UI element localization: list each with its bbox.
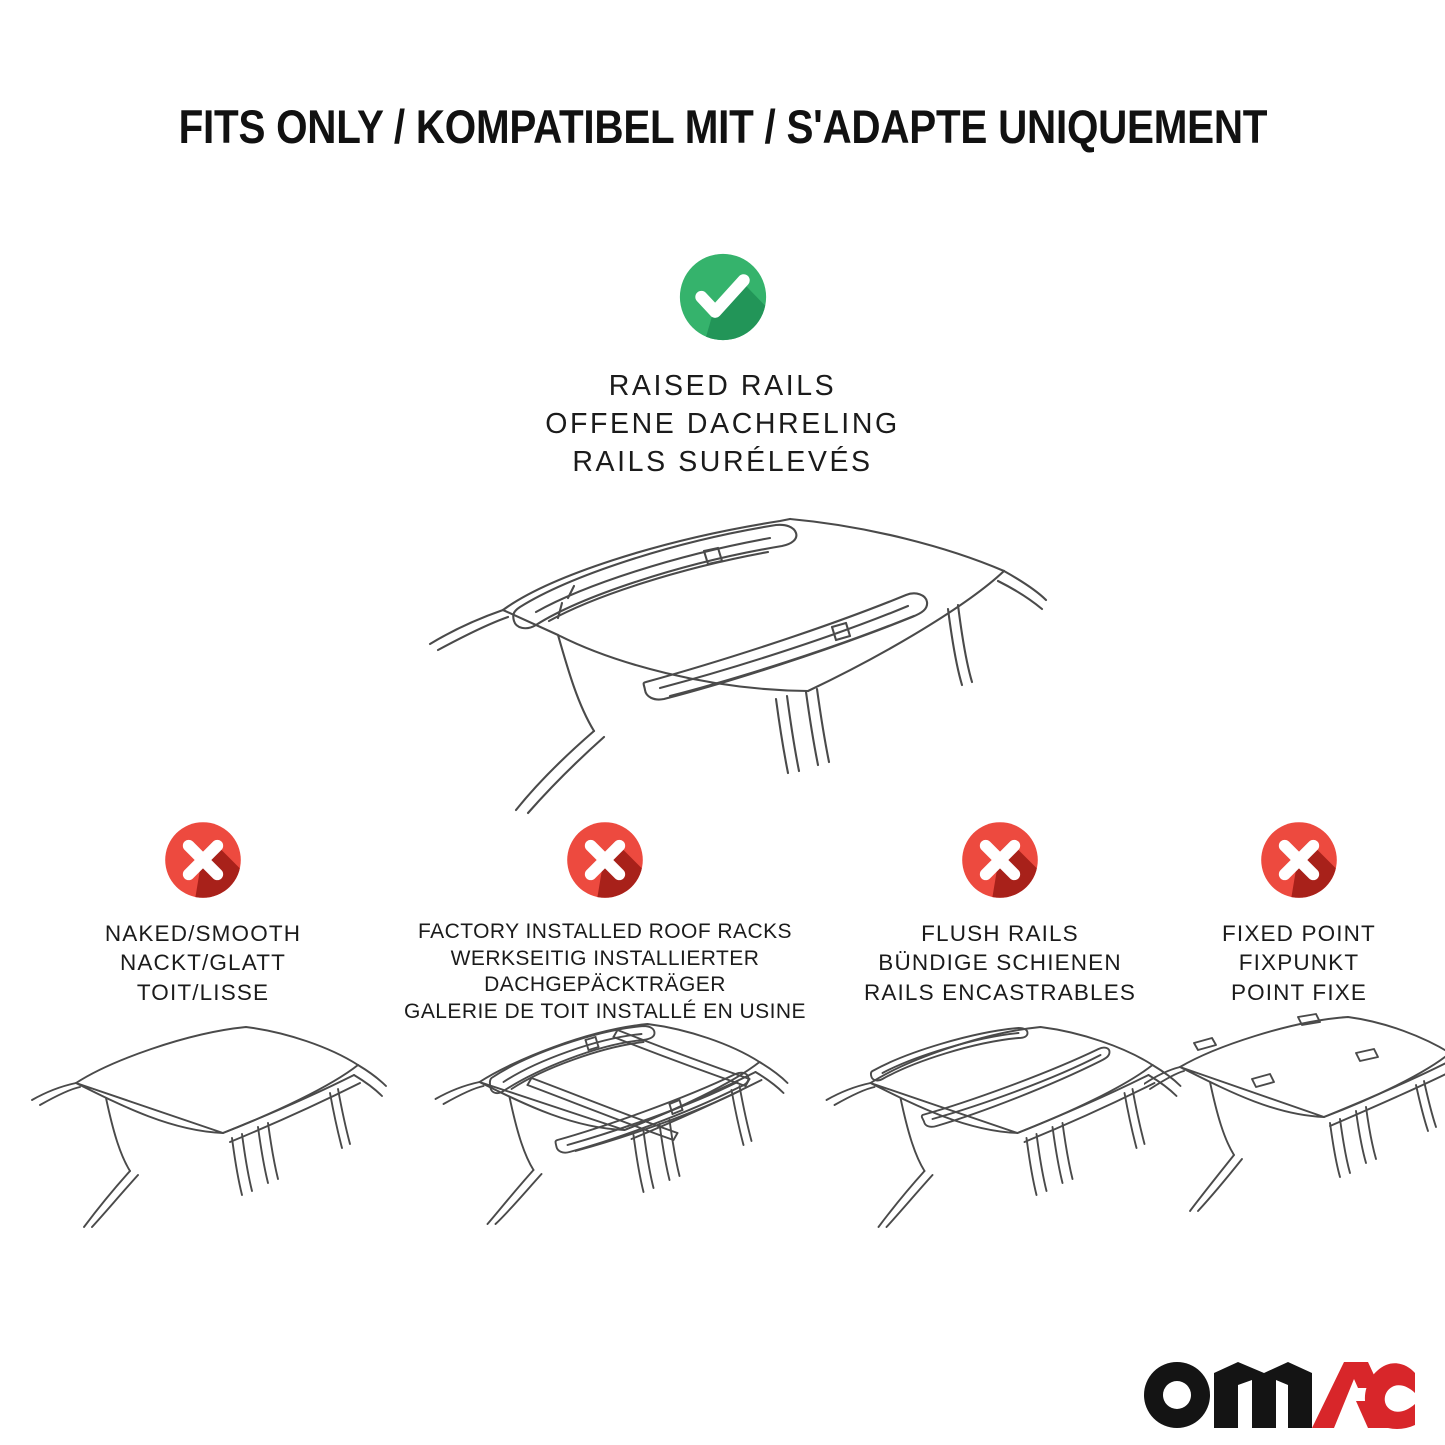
incompatible-item-factory-roof-racks: FACTORY INSTALLED ROOF RACKS WERKSEITIG … [380,818,830,1026]
cross-circle-icon [1257,818,1341,902]
cross-circle-icon [161,818,245,902]
label-line-de: FIXPUNKT [1168,948,1430,977]
compatible-label-line-fr: RAILS SURÉLEVÉS [0,444,1445,482]
omac-logo [1130,1343,1415,1435]
car-roof-factory-roof-racks-illustration [418,990,793,1225]
compatible-label-line-en: RAISED RAILS [0,368,1445,406]
label-line-de: BÜNDIGE SCHIENEN [840,948,1160,977]
page-title: FITS ONLY / KOMPATIBEL MIT / S'ADAPTE UN… [0,103,1445,150]
car-roof-naked-smooth-illustration [18,1003,388,1228]
label-line-de-1: WERKSEITIG INSTALLIERTER [380,946,830,973]
car-roof-raised-rails-illustration [408,485,1048,815]
label-line-en: NAKED/SMOOTH [38,919,368,948]
page-title-text: FITS ONLY / KOMPATIBEL MIT / S'ADAPTE UN… [178,103,1267,150]
label-line-de: NACKT/GLATT [38,948,368,977]
compatible-label-line-de: OFFENE DACHRELING [0,406,1445,444]
incompatible-item-naked-smooth: NAKED/SMOOTH NACKT/GLATT TOIT/LISSE [38,818,368,1007]
car-roof-flush-rails-illustration [813,1003,1188,1228]
car-roof-fixed-point-illustration [1144,1003,1445,1228]
incompatible-label-fixed-point: FIXED POINT FIXPUNKT POINT FIXE [1168,919,1430,1007]
check-circle-icon [674,248,772,346]
label-line-en: FACTORY INSTALLED ROOF RACKS [380,919,830,946]
cross-circle-icon [958,818,1042,902]
label-line-en: FLUSH RAILS [840,919,1160,948]
incompatible-label-naked-smooth: NAKED/SMOOTH NACKT/GLATT TOIT/LISSE [38,919,368,1007]
compatible-label: RAISED RAILS OFFENE DACHRELING RAILS SUR… [0,368,1445,482]
incompatible-section: NAKED/SMOOTH NACKT/GLATT TOIT/LISSE [0,818,1445,1248]
incompatible-item-fixed-point: FIXED POINT FIXPUNKT POINT FIXE [1168,818,1430,1007]
compatible-section: RAISED RAILS OFFENE DACHRELING RAILS SUR… [0,248,1445,482]
incompatible-label-flush-rails: FLUSH RAILS BÜNDIGE SCHIENEN RAILS ENCAS… [840,919,1160,1007]
incompatible-item-flush-rails: FLUSH RAILS BÜNDIGE SCHIENEN RAILS ENCAS… [840,818,1160,1007]
cross-circle-icon [563,818,647,902]
label-line-en: FIXED POINT [1168,919,1430,948]
